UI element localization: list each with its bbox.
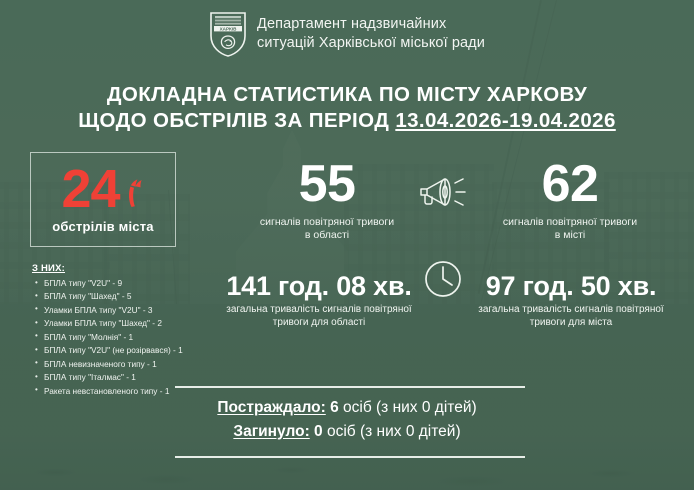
- casualties-killed-label: Загинуло:: [233, 423, 309, 440]
- stat-alarms-city-caption-line2: в місті: [472, 229, 668, 242]
- list-item: БПЛА невизначеного типу - 1: [32, 358, 242, 371]
- stat-alarms-city-caption-line1: сигналів повітряної тривоги: [472, 216, 668, 229]
- casualties-killed-suffix: осіб (з них 0 дітей): [327, 423, 461, 440]
- organization-line-1: Департамент надзвичайних: [257, 15, 485, 34]
- stat-alarms-oblast-caption: сигналів повітряної тривоги в області: [232, 216, 422, 243]
- stat-alarms-city: 62 сигналів повітряної тривоги в місті: [472, 158, 668, 243]
- stat-alarms-oblast-caption-line1: сигналів повітряної тривоги: [232, 216, 422, 229]
- list-item: БПЛА типу "Італмас" - 1: [32, 371, 242, 384]
- casualties-killed-line: Загинуло: 0 осіб (з них 0 дітей): [0, 420, 694, 444]
- casualties-killed-value: 0: [314, 423, 323, 440]
- casualties-injured-label: Постраждало:: [217, 399, 325, 416]
- casualties-injured-suffix: осіб (з них 0 дітей): [343, 399, 477, 416]
- page-title: ДОКЛАДНА СТАТИСТИКА ПО МІСТУ ХАРКОВУ ЩОД…: [0, 82, 694, 134]
- stat-alarms-oblast-caption-line2: в області: [232, 229, 422, 242]
- list-item: БПЛА типу "Молнія" - 1: [32, 331, 242, 344]
- casualties-block: Постраждало: 6 осіб (з них 0 дітей) Заги…: [0, 396, 694, 443]
- svg-text:ХАРКІВ: ХАРКІВ: [220, 26, 238, 31]
- stat-duration-oblast-caption: загальна тривалість сигналів повітряної …: [202, 303, 436, 329]
- stat-duration-city-caption: загальна тривалість сигналів повітряної …: [452, 303, 690, 329]
- stat-duration-city-caption-line1: загальна тривалість сигналів повітряної: [452, 303, 690, 316]
- strikes-caption: обстрілів міста: [52, 219, 153, 234]
- stat-duration-oblast-caption-line1: загальна тривалість сигналів повітряної: [202, 303, 436, 316]
- stat-duration-oblast: 141 год. 08 хв. загальна тривалість сигн…: [202, 272, 436, 329]
- strikes-count-box: 24 обстрілів міста: [30, 152, 176, 247]
- stat-duration-oblast-value: 141 год. 08 хв.: [202, 272, 436, 300]
- header: ХАРКІВ Департамент надзвичайних ситуацій…: [0, 10, 694, 58]
- divider-bottom: [175, 456, 525, 458]
- stat-alarms-city-value: 62: [472, 158, 668, 210]
- kharkiv-shield-logo-icon: ХАРКІВ: [209, 10, 247, 58]
- divider-top: [175, 386, 525, 388]
- bomb-icon: [123, 176, 145, 208]
- title-line-1: ДОКЛАДНА СТАТИСТИКА ПО МІСТУ ХАРКОВУ: [107, 83, 587, 106]
- stat-duration-city-caption-line2: тривоги для міста: [452, 316, 690, 329]
- strikes-count-value: 24: [61, 165, 119, 215]
- stat-duration-oblast-caption-line2: тривоги для області: [202, 316, 436, 329]
- infographic-poster: ХАРКІВ Департамент надзвичайних ситуацій…: [0, 0, 694, 490]
- stat-alarms-city-caption: сигналів повітряної тривоги в місті: [472, 216, 668, 243]
- title-period: 13.04.2026-19.04.2026: [395, 109, 615, 132]
- casualties-injured-value: 6: [330, 399, 339, 416]
- stat-alarms-oblast-value: 55: [232, 158, 422, 210]
- organization-name: Департамент надзвичайних ситуацій Харків…: [257, 15, 485, 53]
- list-item: БПЛА типу "V2U" (не розірвався) - 1: [32, 344, 242, 357]
- casualties-injured-line: Постраждало: 6 осіб (з них 0 дітей): [0, 396, 694, 420]
- stat-alarms-oblast: 55 сигналів повітряної тривоги в області: [232, 158, 422, 243]
- megaphone-icon: [417, 170, 471, 216]
- stat-duration-city: 97 год. 50 хв. загальна тривалість сигна…: [452, 272, 690, 329]
- organization-line-2: ситуацій Харківської міської ради: [257, 34, 485, 53]
- stat-duration-city-value: 97 год. 50 хв.: [452, 272, 690, 300]
- title-line-2-prefix: ЩОДО ОБСТРІЛІВ ЗА ПЕРІОД: [78, 109, 395, 132]
